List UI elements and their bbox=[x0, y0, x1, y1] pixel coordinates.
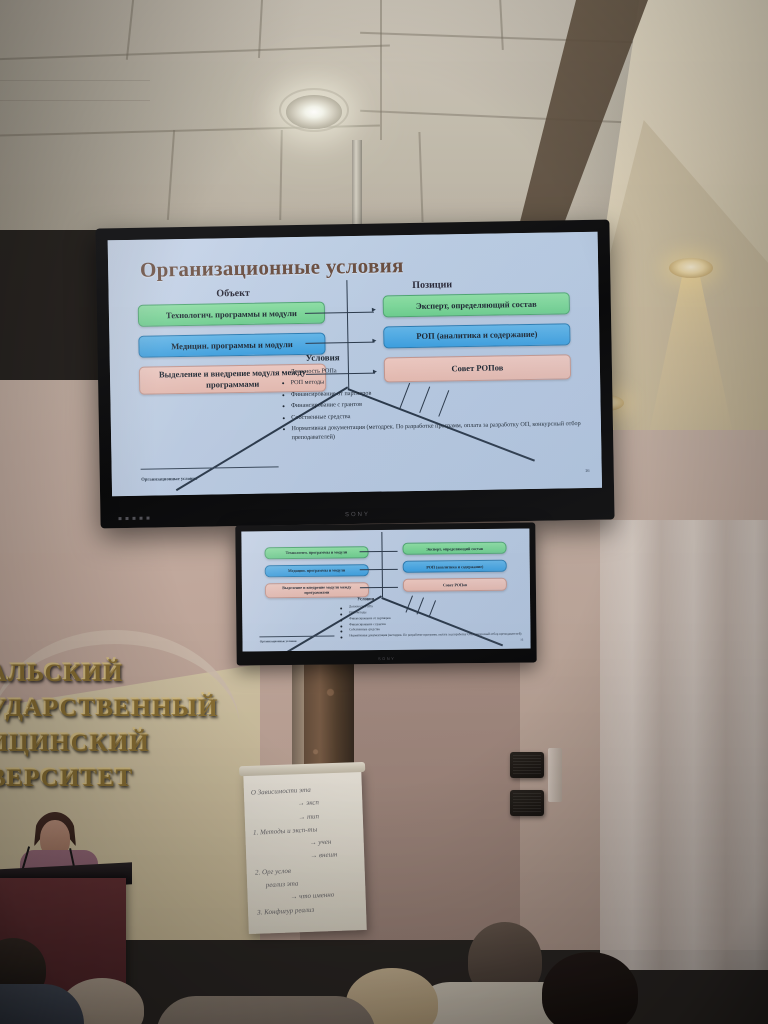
main-display-monitor[interactable]: Организационные условия Объект Позиции Т… bbox=[95, 220, 614, 529]
flipchart-easel[interactable]: О Зависимости эта → эксп → тип 1. Методы… bbox=[243, 768, 367, 934]
sec-right-box-1: Эксперт, определяющий состав bbox=[403, 542, 507, 555]
slide-footer: Организационные условия bbox=[141, 476, 197, 482]
sec-right-box-2: РОП (аналитика и содержание) bbox=[403, 560, 507, 573]
sec-left-box-1: Технологич. программы и модули bbox=[265, 546, 369, 559]
sec-right-box-3: Совет РОПов bbox=[403, 578, 507, 592]
main-display-screen: Организационные условия Объект Позиции Т… bbox=[108, 232, 602, 497]
wall-signage: АЛЬСКИЙ УДАРСТВЕННЫЙ ИЦИНСКИЙ ВЕРСИТЕТ bbox=[0, 660, 198, 800]
column-header-right: Позиции bbox=[412, 279, 452, 291]
sec-arrow-2 bbox=[360, 569, 397, 570]
connector-arrow-1-head bbox=[371, 308, 375, 312]
signage-line: АЛЬСКИЙ bbox=[0, 660, 198, 685]
sec-arrow-1 bbox=[360, 551, 397, 552]
monitor-brand-label: SONY bbox=[100, 507, 614, 522]
left-box-1[interactable]: Технологич. программы и модули bbox=[138, 302, 325, 327]
right-box-2[interactable]: РОП (аналитика и содержание) bbox=[384, 323, 571, 348]
connector-arrow-2-head bbox=[372, 339, 376, 343]
sec-left-box-3: Выделение и внедрение модуля между прогр… bbox=[265, 582, 369, 599]
audience-body-row bbox=[156, 996, 376, 1024]
sec-arrow-3 bbox=[360, 587, 397, 588]
wall-speaker-upper-icon bbox=[510, 752, 544, 778]
left-box-2[interactable]: Медицин. программы и модули bbox=[139, 333, 326, 358]
sec-bullet-list: Должность РОПа РОП методы Финансирование… bbox=[340, 603, 525, 639]
ceiling-downlight-icon bbox=[286, 95, 342, 129]
wall-spotlight-upper-icon bbox=[669, 258, 713, 278]
signage-line: УДАРСТВЕННЫЙ bbox=[0, 695, 198, 720]
slide-secondary: Технологич. программы и модули Медицин. … bbox=[241, 528, 530, 651]
bullet-item: Нормативная документация (методрек. По р… bbox=[282, 420, 586, 442]
column-header-left: Объект bbox=[216, 288, 250, 300]
window-curtain bbox=[600, 520, 768, 970]
room-photo-scene: Организационные условия Объект Позиции Т… bbox=[0, 0, 768, 1024]
sec-footer: Организационные условия bbox=[260, 639, 297, 643]
right-box-1[interactable]: Эксперт, определяющий состав bbox=[383, 292, 570, 317]
slide-page-number: 16 bbox=[585, 468, 590, 473]
secondary-display-screen: Технологич. программы и модули Медицин. … bbox=[241, 528, 530, 651]
sec-center-label: Условия bbox=[357, 596, 374, 601]
slide-title: Организационные условия bbox=[140, 253, 404, 283]
secondary-monitor-brand-label: SONY bbox=[237, 654, 537, 662]
slide-main: Организационные условия Объект Позиции Т… bbox=[108, 232, 602, 497]
connector-arrow-2-line bbox=[305, 342, 374, 344]
signage-line: ВЕРСИТЕТ bbox=[0, 765, 198, 790]
signage-line: ИЦИНСКИЙ bbox=[0, 730, 198, 755]
secondary-display-monitor[interactable]: Технологич. программы и модули Медицин. … bbox=[235, 522, 536, 665]
wall-speaker-lower-icon bbox=[510, 790, 544, 816]
sec-left-box-2: Медицин. программы и модули bbox=[265, 564, 369, 577]
speaker-bracket bbox=[548, 748, 562, 802]
sec-page-number: 16 bbox=[520, 637, 523, 641]
bullet-item: Нормативная документация (методрек. По р… bbox=[340, 631, 524, 637]
flipchart-handwriting: О Зависимости эта → эксп → тип 1. Методы… bbox=[251, 781, 364, 919]
audience-head-2 bbox=[542, 952, 638, 1024]
conditions-bullet-list: Должность РОПа РОП методы Финансирование… bbox=[281, 363, 586, 446]
connector-arrow-1-line bbox=[305, 311, 374, 313]
center-label-conditions: Условия bbox=[306, 353, 340, 364]
sec-footer-rule bbox=[260, 635, 335, 637]
